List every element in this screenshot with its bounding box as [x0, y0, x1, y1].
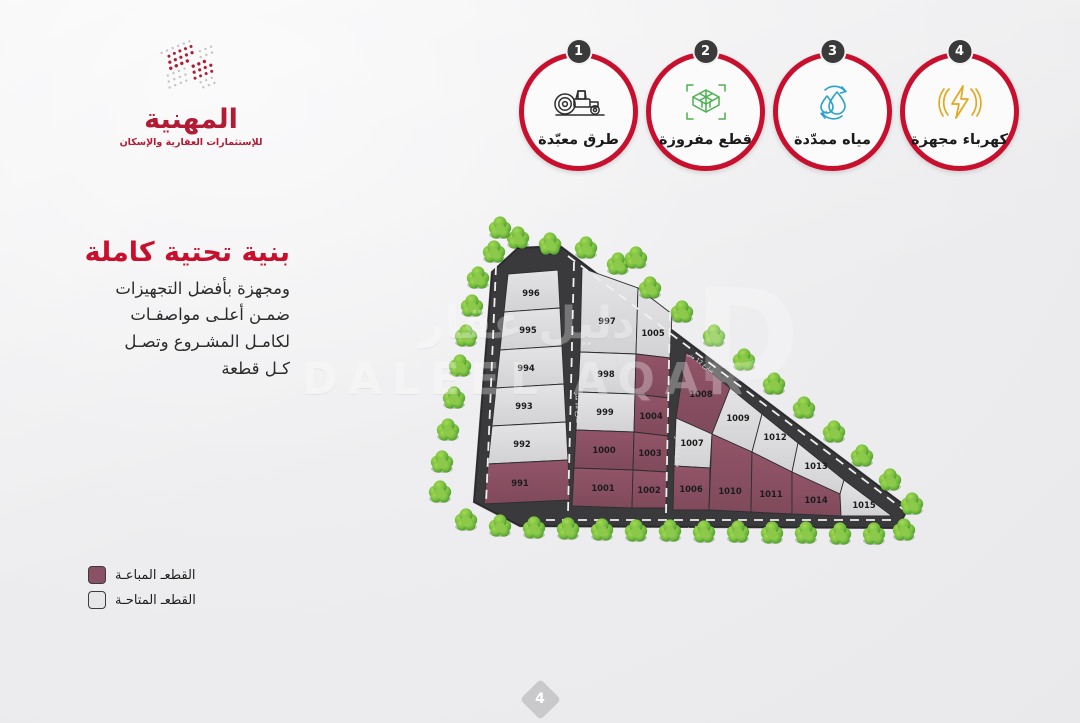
plot-label: 1009 — [726, 413, 749, 423]
plot-label: 1012 — [763, 432, 786, 442]
street-label: شارع 12 متر — [573, 391, 580, 423]
legend-label: القطعـ المباعـة — [115, 568, 196, 583]
badge-paved-roads[interactable]: 1 — [519, 52, 638, 171]
plot-1004 — [635, 354, 670, 398]
plot-label: 1001 — [591, 483, 614, 493]
site-plan-map[interactable]: شارع 12 متر شارع 12 متر شارع 12 متر شارع… — [400, 212, 960, 552]
legend-label: القطعـ المتاحـة — [115, 593, 196, 608]
page-number: 4 — [520, 679, 560, 719]
plot-label: 992 — [513, 439, 531, 449]
water-drop-icon — [808, 78, 858, 126]
legend-swatch-available — [88, 591, 106, 609]
logo-mark-icon — [150, 36, 232, 102]
plot-label: 1002 — [637, 485, 660, 495]
lightning-bolt-icon — [933, 78, 987, 126]
plot-label: 991 — [511, 478, 529, 488]
company-logo: المهنية للإستثمارات العقارية والإسكان — [86, 36, 296, 151]
plot-label: 1004 — [639, 411, 662, 421]
logo-tagline: للإستثمارات العقارية والإسكان — [86, 137, 296, 148]
plot-label: 994 — [517, 363, 535, 373]
headline-block: بنية تحتية كاملة ومجهزة بأفضل التجهيزات … — [60, 236, 290, 383]
plot-label: 1007 — [680, 438, 703, 448]
plot-label: 1000 — [592, 445, 615, 455]
badge-number: 1 — [565, 38, 592, 65]
plot-label: 1003 — [638, 448, 661, 458]
plot-label: 997 — [598, 316, 616, 326]
badge-label: مياه ممدّدة — [794, 132, 871, 148]
page-number-value: 4 — [535, 691, 545, 707]
plot-label: 1005 — [641, 328, 664, 338]
legend-item-available: القطعـ المتاحـة — [88, 591, 200, 609]
plot-column-b — [572, 268, 638, 508]
feature-badges: 1 — [519, 33, 1019, 173]
plot-label: 1008 — [689, 389, 712, 399]
logo-company-name: المهنية — [86, 106, 296, 134]
page-title: بنية تحتية كاملة — [60, 236, 290, 270]
badge-number: 3 — [819, 38, 846, 65]
badge-number: 4 — [946, 38, 973, 65]
legend-swatch-sold — [88, 566, 106, 584]
plot-label: 996 — [522, 288, 540, 298]
badge-label: طرق معبّدة — [538, 132, 619, 148]
badge-subdivided-plots[interactable]: 2 قطع مفروزة — [646, 52, 765, 171]
plot-label: 1015 — [852, 500, 875, 510]
plot-label: 1006 — [679, 484, 702, 494]
headline-line: ضمـن أعلـى مواصفـات — [60, 302, 290, 329]
road-roller-icon — [552, 78, 606, 126]
badge-label: قطع مفروزة — [659, 132, 752, 148]
plot-label: 1010 — [718, 486, 741, 496]
headline-line: ومجهزة بأفضل التجهيزات — [60, 276, 290, 303]
badge-number: 2 — [692, 38, 719, 65]
badge-electricity[interactable]: 4 كهرباء مجهزة — [900, 52, 1019, 171]
plot-label: 1013 — [804, 461, 827, 471]
plot-label: 995 — [519, 325, 537, 335]
plot-997 — [580, 268, 638, 354]
plot-label: 998 — [597, 369, 615, 379]
headline-body: ومجهزة بأفضل التجهيزات ضمـن أعلـى مواصفـ… — [60, 276, 290, 383]
land-parcel-icon — [682, 78, 730, 126]
plot-label: 993 — [515, 401, 533, 411]
badge-water-supply[interactable]: 3 مياه ممدّدة — [773, 52, 892, 171]
plot-label: 1014 — [804, 495, 827, 505]
headline-line: كـل قطعة — [60, 356, 290, 383]
plot-label: 1011 — [759, 489, 782, 499]
plot-label: 999 — [596, 407, 614, 417]
badge-label: كهرباء مجهزة — [911, 132, 1008, 148]
headline-line: لكامـل المشـروع وتصـل — [60, 329, 290, 356]
legend-item-sold: القطعـ المباعـة — [88, 566, 200, 584]
map-legend: القطعـ المباعـة القطعـ المتاحـة — [88, 566, 200, 616]
